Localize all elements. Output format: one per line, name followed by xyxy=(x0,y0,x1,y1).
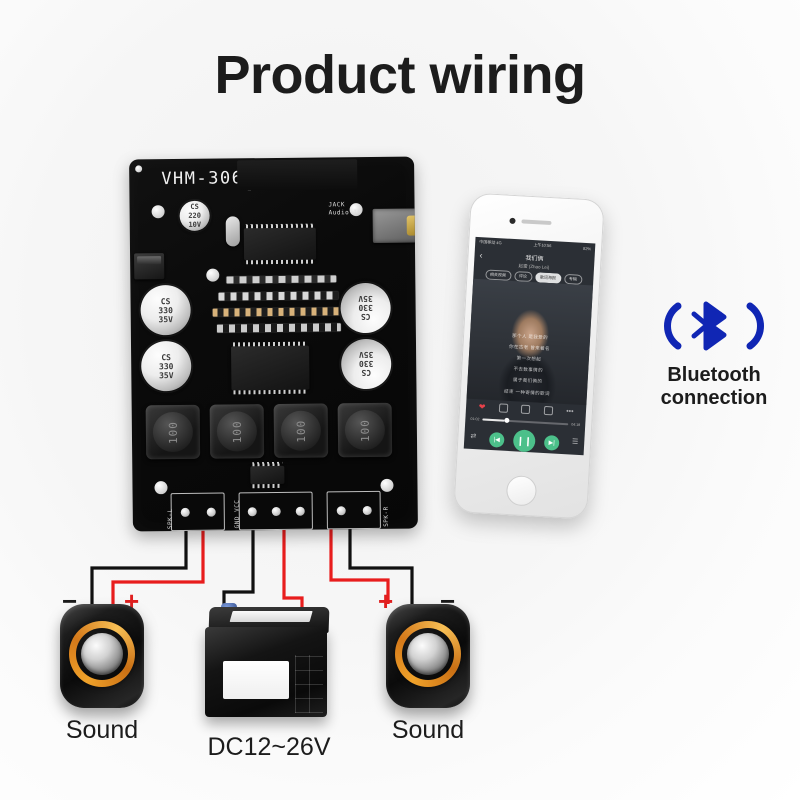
capacitor-330uf: CS33035V xyxy=(340,283,391,334)
battery-top-label xyxy=(230,611,313,622)
battery-label xyxy=(223,661,289,699)
terminal-pad[interactable] xyxy=(247,507,256,516)
capacitor-220uf: CS22010V xyxy=(179,201,209,231)
terminal-pad[interactable] xyxy=(271,506,280,515)
mounting-hole xyxy=(152,205,165,218)
terminal-label-power: GND VCC xyxy=(234,500,241,529)
previous-button[interactable]: |◀ xyxy=(489,431,505,447)
terminal-pad[interactable] xyxy=(336,506,345,515)
smd-row xyxy=(218,291,338,300)
inductor: 100 xyxy=(146,405,201,460)
inductor: 100 xyxy=(210,404,265,459)
lyric-line: 那个人 是我爱的 xyxy=(470,331,590,344)
inductor-value: 100 xyxy=(166,421,179,444)
mounting-hole xyxy=(206,269,219,282)
speaker-left-caption: Sound xyxy=(42,716,162,745)
duration-time: 04:18 xyxy=(571,422,580,426)
smd-row xyxy=(213,307,341,316)
terminal-left-speaker[interactable] xyxy=(171,493,225,532)
bluetooth-ic xyxy=(244,228,316,261)
more-icon[interactable]: ••• xyxy=(566,408,573,415)
battery-vent-grid xyxy=(295,655,323,713)
progress-knob[interactable] xyxy=(505,418,510,423)
lyric-line: 你在古老 曾来着名 xyxy=(469,342,589,355)
capacitor-330uf: CS33035V xyxy=(341,339,392,390)
terminal-pad[interactable] xyxy=(362,505,371,514)
amplifier-ic xyxy=(231,346,309,391)
nav-title: 我们俩 xyxy=(525,253,543,263)
inductor-value: 100 xyxy=(294,419,307,442)
elapsed-time: 01:02 xyxy=(470,417,479,421)
seek-bar-row[interactable]: 01:02 04:18 xyxy=(465,417,585,428)
next-button[interactable]: ▶| xyxy=(544,434,560,450)
chevron-left-icon[interactable]: ‹ xyxy=(479,250,483,260)
timer-icon[interactable] xyxy=(499,403,508,412)
heart-icon[interactable]: ❤ xyxy=(479,403,486,411)
speaker-right xyxy=(386,604,470,708)
play-pause-button[interactable]: ❙❙ xyxy=(513,429,536,452)
crystal-oscillator xyxy=(226,216,240,246)
board-model-label: VHM-306 xyxy=(161,168,243,189)
speaker-right-caption: Sound xyxy=(368,716,488,745)
terminal-pad[interactable] xyxy=(180,507,189,516)
capacitor-330uf: CS33035V xyxy=(140,285,191,336)
mounting-hole xyxy=(154,481,167,494)
terminal-pad[interactable] xyxy=(295,506,304,515)
smartphone[interactable]: 中国移动 4G 上午10:56 82% ‹ 我们俩 赵雷 (Zhao Lei) … xyxy=(453,193,605,520)
lyric-line: 不去数事情的 xyxy=(468,364,588,377)
lyric-line: 结束 一种寄情的歌词 xyxy=(467,387,587,400)
phone-screen[interactable]: 中国移动 4G 上午10:56 82% ‹ 我们俩 赵雷 (Zhao Lei) … xyxy=(464,237,596,455)
voltage-regulator xyxy=(134,253,164,279)
speaker-left xyxy=(60,604,144,708)
inductor-value: 100 xyxy=(358,419,371,442)
status-battery: 82% xyxy=(583,245,591,250)
smd-row xyxy=(226,275,336,283)
bluetooth-module xyxy=(237,159,357,190)
inductor: 100 xyxy=(338,403,393,458)
terminal-pad[interactable] xyxy=(206,507,215,516)
amplifier-board: VHM-306 JACKAudio IN CS22010V CS33035V C… xyxy=(129,157,418,532)
terminal-power[interactable] xyxy=(239,492,313,531)
terminal-label-right: SPK-R xyxy=(383,506,390,527)
terminal-right-speaker[interactable] xyxy=(327,491,381,530)
playlist-icon[interactable]: ☰ xyxy=(572,438,579,446)
smd-row xyxy=(217,323,341,332)
bluetooth-callout: Bluetooth connection xyxy=(638,300,790,410)
page-title: Product wiring xyxy=(0,44,800,106)
battery-caption: DC12~26V xyxy=(205,733,333,762)
lyric-line: 属于我们俩的 xyxy=(468,375,588,388)
bluetooth-icon xyxy=(638,300,790,360)
status-carrier: 中国移动 4G xyxy=(479,239,502,246)
power-supply-battery xyxy=(205,607,333,717)
terminal-label-left: SPK-L xyxy=(167,508,174,529)
audio-jack-connector[interactable] xyxy=(373,208,418,242)
speaker-dome xyxy=(81,633,123,675)
bluetooth-caption-line2: connection xyxy=(638,387,790,410)
board-marker-dot xyxy=(135,165,142,172)
progress-fill xyxy=(482,419,504,422)
inductor: 100 xyxy=(274,403,329,458)
shuffle-icon[interactable]: ⇄ xyxy=(470,432,476,440)
mosfet xyxy=(250,466,284,484)
jack-audio-in-label: JACKAudio IN xyxy=(329,201,362,217)
download-icon[interactable] xyxy=(521,405,530,414)
capacitor-330uf: CS33035V xyxy=(141,341,192,392)
mounting-hole xyxy=(380,479,393,492)
bluetooth-caption: Bluetooth connection xyxy=(638,364,790,410)
comment-icon[interactable] xyxy=(544,406,553,415)
lyric-line: 第一次想起 xyxy=(469,353,589,366)
bluetooth-caption-line1: Bluetooth xyxy=(638,364,790,387)
progress-slider[interactable] xyxy=(482,419,568,425)
status-time: 上午10:56 xyxy=(533,242,551,249)
product-wiring-diagram: Product wiring VHM-306 JACKAudio IN xyxy=(0,0,800,800)
inductor-value: 100 xyxy=(230,420,243,443)
battery-case xyxy=(205,627,327,717)
speaker-dome xyxy=(407,633,449,675)
album-artwork: 那个人 是我爱的 你在古老 曾来着名 第一次想起 不去数事情的 属于我们俩的 结… xyxy=(467,279,594,406)
